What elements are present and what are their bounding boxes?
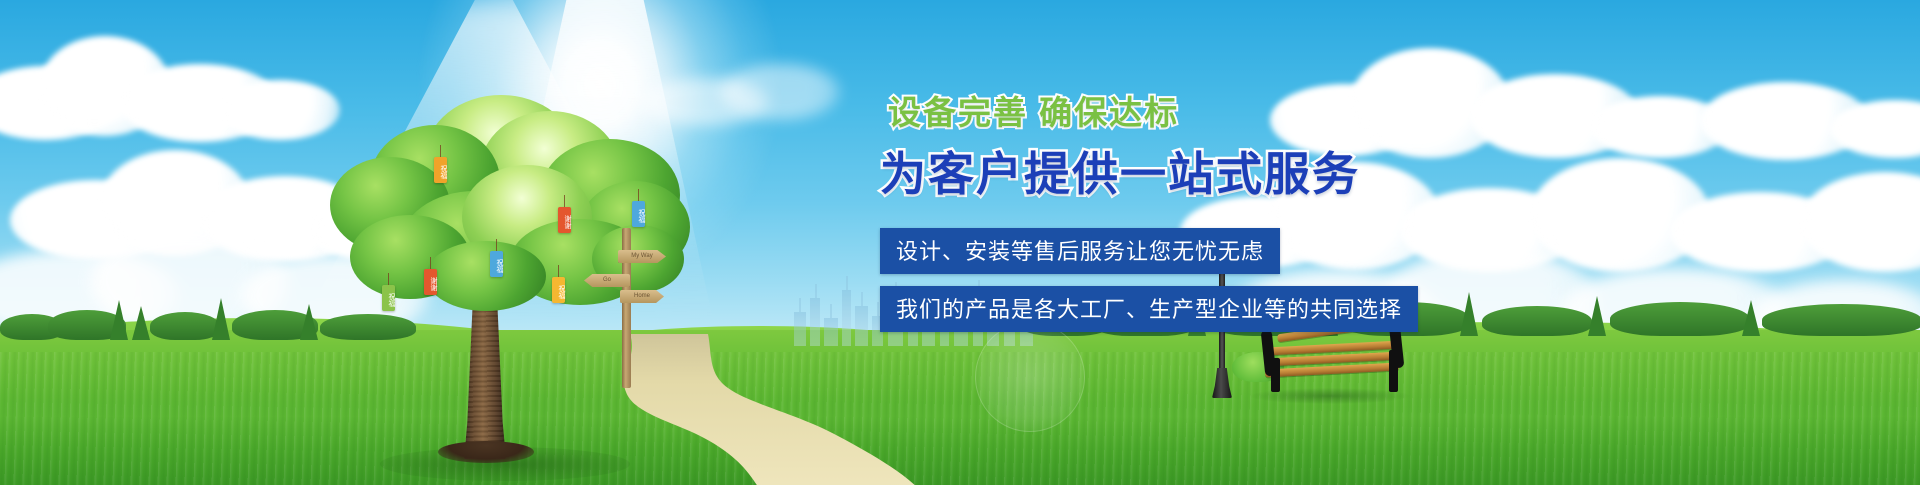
bench-leg-left bbox=[1271, 358, 1280, 392]
headline-primary: 设备完善 确保达标 bbox=[888, 86, 1500, 134]
headline-secondary: 为客户提供一站式服务 bbox=[880, 138, 1500, 204]
wish-tag: 谢谢 bbox=[424, 269, 437, 295]
bench-leg-right bbox=[1389, 350, 1398, 392]
signpost-arrow: Go bbox=[584, 274, 630, 287]
signpost: My Way Go Home bbox=[596, 228, 666, 388]
light-bubble bbox=[975, 322, 1085, 432]
wish-tag: 祝福 bbox=[434, 157, 447, 183]
sub-headline-1: 设计、安装等售后服务让您无忧无虑 bbox=[880, 228, 1280, 274]
wish-tag: 谢谢 bbox=[558, 207, 571, 233]
banner-copy: 设备完善 确保达标 为客户提供一站式服务 设计、安装等售后服务让您无忧无虑 我们… bbox=[880, 86, 1500, 332]
wish-tag: 祝福 bbox=[490, 251, 503, 277]
tree-trunk bbox=[464, 291, 506, 459]
subbar-row-1: 设计、安装等售后服务让您无忧无虑 bbox=[880, 228, 1500, 274]
signpost-arrow: Home bbox=[620, 290, 664, 303]
lamppost-base bbox=[1212, 368, 1232, 398]
sub-headline-2: 我们的产品是各大工厂、生产型企业等的共同选择 bbox=[880, 286, 1418, 332]
wish-tag: 祝福 bbox=[382, 285, 395, 311]
wish-tag: 祝福 bbox=[552, 277, 565, 303]
signpost-arrow: My Way bbox=[618, 250, 666, 263]
tree-root-base bbox=[438, 441, 534, 463]
hero-banner: 祝福 谢谢 祝福 祝福 谢谢 祝福 祝福 My Way Go Home 设备完善… bbox=[0, 0, 1920, 485]
subbar-row-2: 我们的产品是各大工厂、生产型企业等的共同选择 bbox=[880, 286, 1500, 332]
wish-tag: 祝福 bbox=[632, 201, 645, 227]
